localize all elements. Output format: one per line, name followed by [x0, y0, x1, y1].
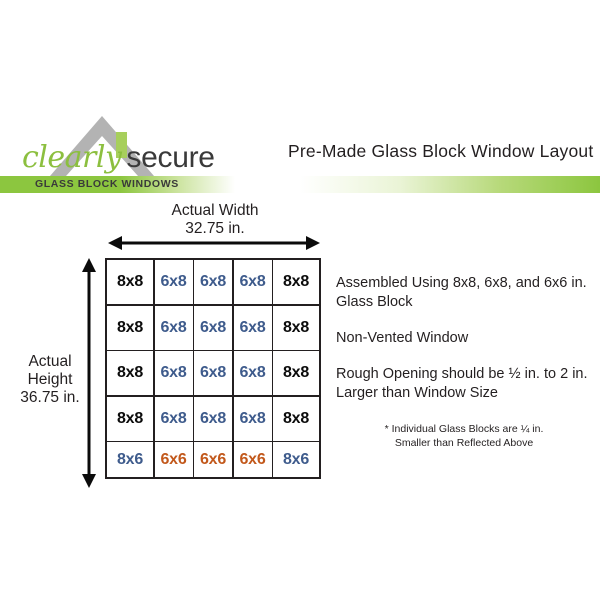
width-dimension-label: Actual Width 32.75 in.	[110, 202, 320, 238]
width-label-line1: Actual Width	[110, 202, 320, 220]
glass-block-cell: 6x8	[155, 260, 193, 304]
logo-word-clearly: clearly	[22, 140, 121, 175]
glass-block-cell: 8x8	[273, 397, 319, 441]
glass-block-cell: 6x6	[194, 442, 232, 477]
glass-block-cell: 6x6	[155, 442, 193, 477]
note-item: Assembled Using 8x8, 6x8, and 6x6 in. Gl…	[336, 274, 594, 312]
glass-block-cell: 6x8	[234, 260, 272, 304]
grid-row: 8x86x86x86x88x8	[107, 306, 319, 350]
glass-block-cell: 6x8	[234, 351, 272, 395]
glass-block-cell: 6x8	[155, 397, 193, 441]
height-label-line3: 36.75 in.	[14, 389, 86, 407]
glass-block-cell: 6x8	[234, 397, 272, 441]
glass-block-grid: 8x86x86x86x88x88x86x86x86x88x88x86x86x86…	[105, 258, 321, 479]
glass-block-cell: 6x8	[155, 306, 193, 350]
glass-block-cell: 8x8	[107, 306, 153, 350]
glass-block-cell: 6x8	[194, 397, 232, 441]
glass-block-cell: 6x8	[234, 306, 272, 350]
note-item: Non-Vented Window	[336, 329, 594, 348]
height-arrow-icon	[80, 258, 98, 488]
notes-list: Assembled Using 8x8, 6x8, and 6x6 in. Gl…	[336, 274, 594, 420]
glass-block-cell: 8x8	[273, 260, 319, 304]
glass-block-cell: 6x8	[194, 306, 232, 350]
glass-block-cell: 8x8	[273, 351, 319, 395]
glass-block-cell: 8x8	[107, 397, 153, 441]
height-label-line1: Actual	[14, 353, 86, 371]
footnote-line1: * Individual Glass Blocks are ¼ in.	[344, 422, 584, 436]
glass-block-cell: 6x6	[234, 442, 272, 477]
glass-block-cell: 6x8	[194, 351, 232, 395]
glass-block-cell: 8x8	[107, 351, 153, 395]
glass-block-cell: 6x8	[194, 260, 232, 304]
grid-row: 8x66x66x66x68x6	[107, 442, 319, 477]
glass-block-cell: 6x8	[155, 351, 193, 395]
footnote: * Individual Glass Blocks are ¼ in. Smal…	[344, 422, 584, 450]
grid-row: 8x86x86x86x88x8	[107, 260, 319, 304]
height-label-line2: Height	[14, 371, 86, 389]
footnote-line2: Smaller than Reflected Above	[344, 436, 584, 450]
logo-wordmark: clearlysecure	[22, 140, 272, 178]
glass-block-cell: 8x6	[273, 442, 319, 477]
grid-row: 8x86x86x86x88x8	[107, 351, 319, 395]
note-item: Rough Opening should be ½ in. to 2 in. L…	[336, 365, 594, 403]
brand-tagline: GLASS BLOCK WINDOWS	[35, 178, 179, 190]
width-arrow-icon	[108, 234, 320, 252]
glass-block-cell: 8x8	[273, 306, 319, 350]
height-dimension-label: Actual Height 36.75 in.	[14, 353, 86, 407]
page-title: Pre-Made Glass Block Window Layout	[288, 141, 593, 162]
glass-block-cell: 8x6	[107, 442, 153, 477]
grid-row: 8x86x86x86x88x8	[107, 397, 319, 441]
logo-word-secure: secure	[126, 141, 214, 174]
glass-block-cell: 8x8	[107, 260, 153, 304]
layout-diagram-page: clearlysecure GLASS BLOCK WINDOWS Pre-Ma…	[0, 0, 600, 600]
